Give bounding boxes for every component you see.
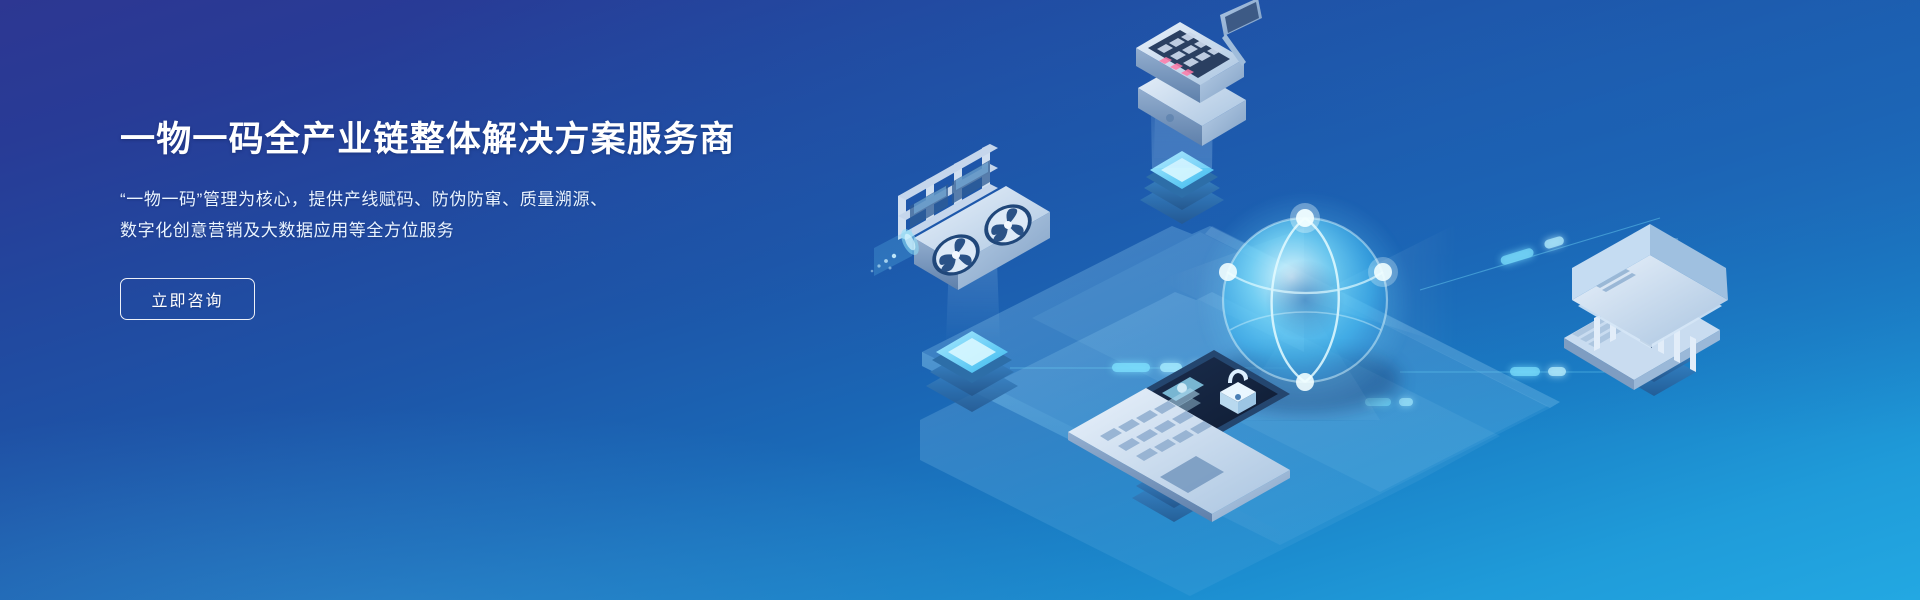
hero-copy: 一物一码全产业链整体解决方案服务商 “一物一码”管理为核心，提供产线赋码、防伪防… [120,118,760,320]
subtitle-line-1: “一物一码”管理为核心，提供产线赋码、防伪防窜、质量溯源、 [120,184,760,215]
page-title: 一物一码全产业链整体解决方案服务商 [120,118,760,162]
hero-subtitle: “一物一码”管理为核心，提供产线赋码、防伪防窜、质量溯源、 数字化创意营销及大数… [120,184,760,246]
server-fans [871,144,1050,290]
isometric-illustration [860,0,1920,600]
hero-banner: 一物一码全产业链整体解决方案服务商 “一物一码”管理为核心，提供产线赋码、防伪防… [0,0,1920,600]
subtitle-line-2: 数字化创意营销及大数据应用等全方位服务 [120,215,760,246]
bank-building [1564,224,1728,390]
consult-now-button[interactable]: 立即咨询 [120,278,255,320]
